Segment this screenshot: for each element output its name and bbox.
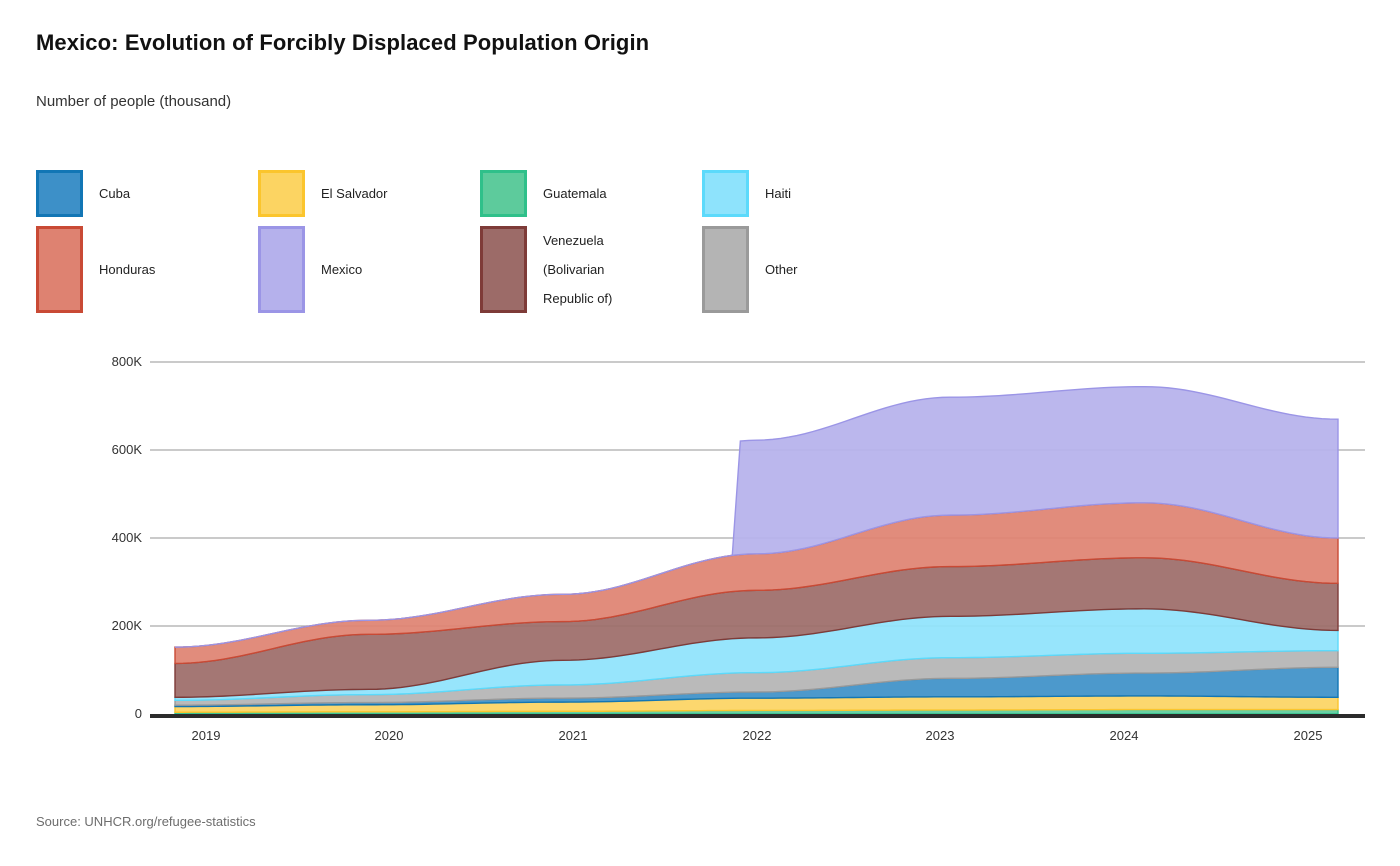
- chart-legend: CubaEl SalvadorGuatemalaHaitiHondurasMex…: [36, 168, 1356, 313]
- legend-swatch-icon: [36, 226, 83, 313]
- x-axis-tick-label: 2023: [900, 728, 980, 743]
- legend-item-venezuela[interactable]: Venezuela (Bolivarian Republic of): [480, 226, 702, 313]
- source-caption: Source: UNHCR.org/refugee-statistics: [36, 814, 256, 829]
- legend-swatch-icon: [702, 170, 749, 217]
- legend-item-guatemala[interactable]: Guatemala: [480, 168, 702, 218]
- streamgraph-plot-area: 0200K400K600K800K20192020202120222023202…: [0, 330, 1400, 750]
- legend-item-cuba[interactable]: Cuba: [36, 168, 258, 218]
- y-axis-tick-label: 200K: [72, 618, 142, 633]
- legend-swatch-icon: [36, 170, 83, 217]
- legend-item-label: Guatemala: [543, 179, 607, 208]
- legend-item-label: El Salvador: [321, 179, 387, 208]
- x-axis-tick-label: 2021: [533, 728, 613, 743]
- x-axis-tick-label: 2024: [1084, 728, 1164, 743]
- legend-swatch-icon: [258, 170, 305, 217]
- y-axis-tick-label: 800K: [72, 354, 142, 369]
- chart-subtitle: Number of people (thousand): [36, 93, 231, 110]
- legend-item-label: Venezuela (Bolivarian Republic of): [543, 226, 612, 313]
- legend-item-other[interactable]: Other: [702, 226, 924, 313]
- streamgraph-svg: [0, 330, 1400, 750]
- legend-item-label: Cuba: [99, 179, 130, 208]
- legend-item-el-salvador[interactable]: El Salvador: [258, 168, 480, 218]
- x-axis-tick-label: 2019: [166, 728, 246, 743]
- page-title: Mexico: Evolution of Forcibly Displaced …: [36, 30, 649, 56]
- x-axis-tick-label: 2025: [1268, 728, 1348, 743]
- legend-swatch-icon: [480, 170, 527, 217]
- legend-swatch-icon: [702, 226, 749, 313]
- legend-item-label: Mexico: [321, 255, 362, 284]
- legend-item-label: Haiti: [765, 179, 791, 208]
- y-axis-tick-label: 0: [72, 706, 142, 721]
- legend-item-label: Honduras: [99, 255, 155, 284]
- y-axis-tick-label: 600K: [72, 442, 142, 457]
- y-axis-tick-label: 400K: [72, 530, 142, 545]
- legend-item-mexico[interactable]: Mexico: [258, 226, 480, 313]
- legend-item-haiti[interactable]: Haiti: [702, 168, 924, 218]
- legend-swatch-icon: [258, 226, 305, 313]
- x-axis-tick-label: 2020: [349, 728, 429, 743]
- legend-item-honduras[interactable]: Honduras: [36, 226, 258, 313]
- legend-item-label: Other: [765, 255, 798, 284]
- legend-swatch-icon: [480, 226, 527, 313]
- x-axis-tick-label: 2022: [717, 728, 797, 743]
